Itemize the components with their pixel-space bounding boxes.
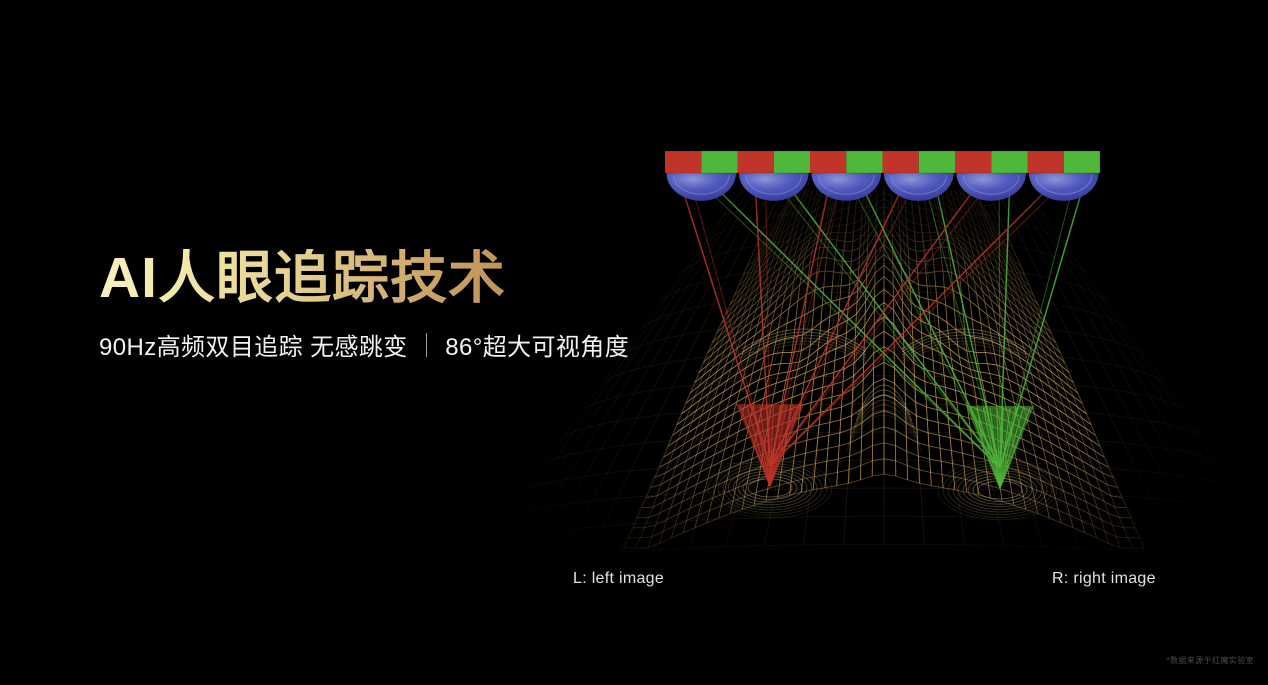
eye-convergence-cones [736,404,1034,490]
slide-canvas: AI人眼追踪技术 90Hz高频双目追踪 无感跳变 86°超大可视角度 L: le… [0,0,1268,685]
subtitle-right: 86°超大可视角度 [445,327,629,362]
lenticular-lens-array [666,173,1098,201]
footnote-disclaimer: *数据来源于红魔实验室 [1166,655,1254,666]
face-wireframe-mesh [624,117,1144,548]
caption-right-image: R: right image [1052,570,1156,588]
page-subtitle: 90Hz高频双目追踪 无感跳变 86°超大可视角度 [99,327,629,362]
subtitle-left: 90Hz高频双目追踪 无感跳变 [99,327,408,362]
rgb-subpixel-bar [665,151,1100,173]
subtitle-divider [426,333,428,357]
page-title: AI人眼追踪技术 [99,249,506,309]
light-rays [683,191,1082,468]
caption-left-image: L: left image [573,570,664,588]
